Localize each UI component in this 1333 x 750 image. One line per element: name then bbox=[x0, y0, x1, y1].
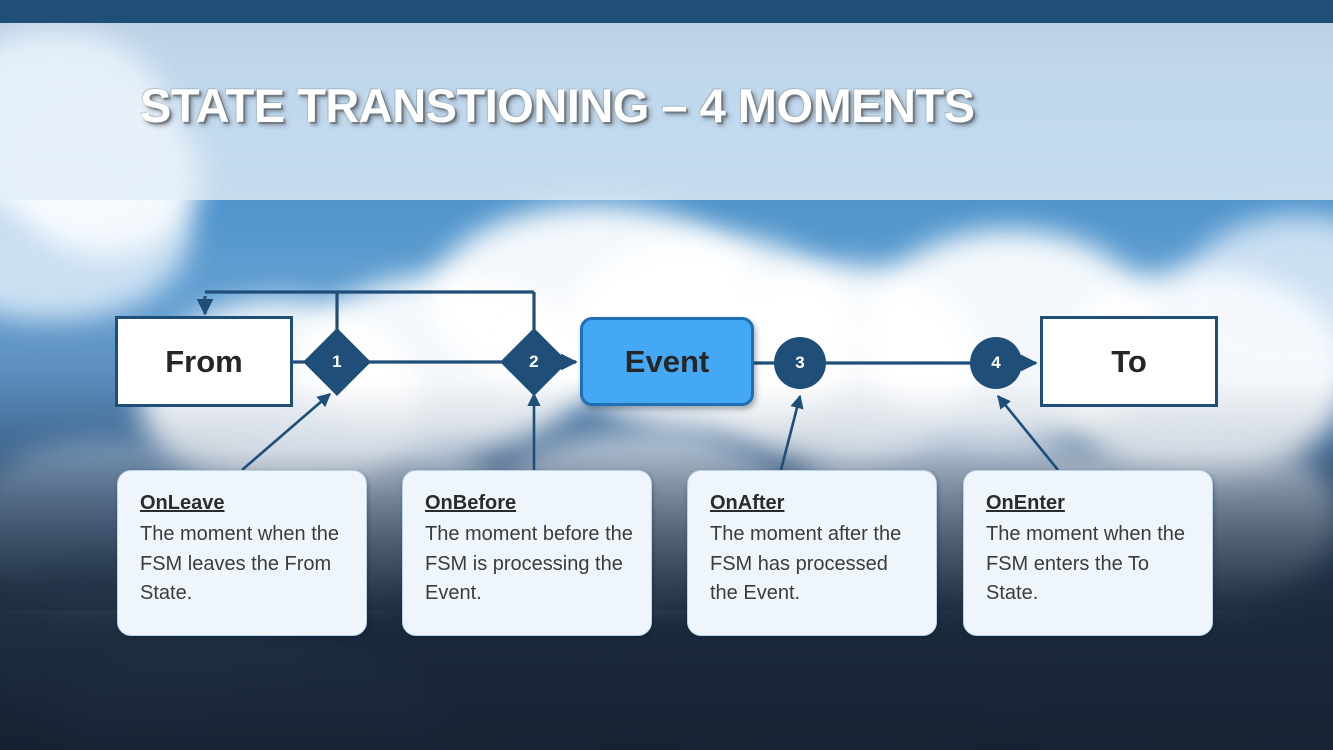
state-node-event[interactable]: Event bbox=[580, 317, 754, 406]
callout-onbefore-body: The moment before the FSM is processing … bbox=[425, 520, 635, 609]
moment-marker-4-label: 4 bbox=[991, 353, 1000, 373]
moment-marker-2-label: 2 bbox=[529, 352, 538, 372]
callout-onafter[interactable]: OnAfter The moment after the FSM has pro… bbox=[687, 470, 937, 636]
state-node-from[interactable]: From bbox=[115, 316, 293, 407]
state-node-to-label: To bbox=[1111, 344, 1147, 380]
callout-onafter-body: The moment after the FSM has processed t… bbox=[710, 520, 920, 609]
callout-onleave-title: OnLeave bbox=[140, 489, 350, 519]
callout-onafter-title: OnAfter bbox=[710, 489, 920, 519]
moment-marker-1-label: 1 bbox=[332, 352, 341, 372]
moment-marker-3[interactable]: 3 bbox=[774, 337, 826, 389]
top-accent-strip bbox=[0, 0, 1333, 23]
state-node-to[interactable]: To bbox=[1040, 316, 1218, 407]
callout-onenter-title: OnEnter bbox=[986, 489, 1196, 519]
callout-onbefore[interactable]: OnBefore The moment before the FSM is pr… bbox=[402, 470, 652, 636]
state-node-event-label: Event bbox=[625, 344, 709, 380]
page-title: STATE TRANSTIONING – 4 MOMENTS bbox=[140, 78, 975, 133]
callout-onleave[interactable]: OnLeave The moment when the FSM leaves t… bbox=[117, 470, 367, 636]
moment-marker-3-label: 3 bbox=[795, 353, 804, 373]
slide-canvas: STATE TRANSTIONING – 4 MOMENTS bbox=[0, 0, 1333, 750]
moment-marker-4[interactable]: 4 bbox=[970, 337, 1022, 389]
callout-onbefore-title: OnBefore bbox=[425, 489, 635, 519]
state-node-from-label: From bbox=[165, 344, 243, 380]
callout-onleave-body: The moment when the FSM leaves the From … bbox=[140, 520, 350, 609]
callout-onenter[interactable]: OnEnter The moment when the FSM enters t… bbox=[963, 470, 1213, 636]
callout-onenter-body: The moment when the FSM enters the To St… bbox=[986, 520, 1196, 609]
